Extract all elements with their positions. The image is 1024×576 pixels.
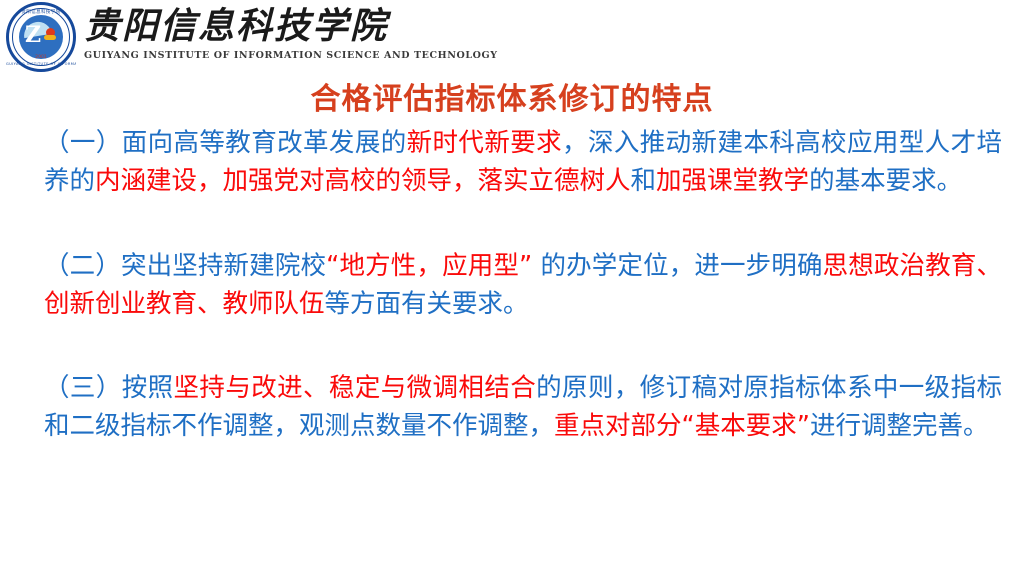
text-run-blue: 进行调整完善。 bbox=[810, 411, 989, 441]
school-wordmark: 贵阳信息科技学院 GUIYANG INSTITUTE OF INFORMATIO… bbox=[84, 4, 414, 63]
slide-title: 合格评估指标体系修订的特点 bbox=[0, 80, 1024, 120]
emblem-founded-year: 2001 bbox=[6, 55, 76, 60]
emblem-gold-bar bbox=[44, 35, 56, 40]
text-run-blue: （二）突出坚持新建院校 bbox=[44, 251, 326, 281]
paragraph-item-three: （三）按照坚持与改进、稳定与微调相结合的原则，修订稿对原指标体系中一级指标和二级… bbox=[30, 370, 1002, 445]
text-run-blue: 的基本要求。 bbox=[809, 166, 962, 196]
text-run-red: 坚持与改进、稳定与微调相结合 bbox=[174, 373, 537, 403]
text-run-blue: （三）按照 bbox=[44, 373, 174, 403]
text-run-red: 加强课堂教学 bbox=[656, 166, 809, 196]
text-run-red: 重点对部分“基本要求” bbox=[554, 411, 810, 441]
paragraph-item-one: （一）面向高等教育改革发展的新时代新要求，深入推动新建本科高校应用型人才培养的内… bbox=[30, 125, 1002, 200]
university-emblem-icon: 贵阳信息科技学院 Z 2001 GUIYANG INSTITUTE OF INF… bbox=[6, 2, 76, 72]
emblem-ring-text-en: GUIYANG INSTITUTE OF INFORMATION SCIENCE… bbox=[6, 62, 76, 66]
text-run-blue: 等方面有关要求。 bbox=[325, 289, 529, 319]
text-run-blue: 的办学定位，进一步明确 bbox=[532, 251, 822, 281]
paragraph-spacer bbox=[30, 200, 1002, 248]
text-run-blue: 和 bbox=[631, 166, 657, 196]
paragraph-item-two: （二）突出坚持新建院校“地方性，应用型” 的办学定位，进一步明确思想政治教育、创… bbox=[30, 248, 1002, 323]
slide-header: 贵阳信息科技学院 Z 2001 GUIYANG INSTITUTE OF INF… bbox=[0, 0, 1024, 76]
slide-body: （一）面向高等教育改革发展的新时代新要求，深入推动新建本科高校应用型人才培养的内… bbox=[30, 125, 1002, 445]
emblem-monogram: Z bbox=[25, 24, 40, 46]
school-name-cn: 贵阳信息科技学院 bbox=[84, 4, 414, 48]
text-run-red: “地方性，应用型” bbox=[326, 251, 532, 281]
text-run-blue: （一）面向高等教育改革发展的 bbox=[44, 128, 407, 158]
school-name-en: GUIYANG INSTITUTE OF INFORMATION SCIENCE… bbox=[84, 49, 414, 63]
paragraph-spacer bbox=[30, 323, 1002, 370]
text-run-red: 内涵建设，加强党对高校的领导，落实立德树人 bbox=[95, 166, 631, 196]
text-run-red: 新时代新要求 bbox=[407, 128, 562, 158]
